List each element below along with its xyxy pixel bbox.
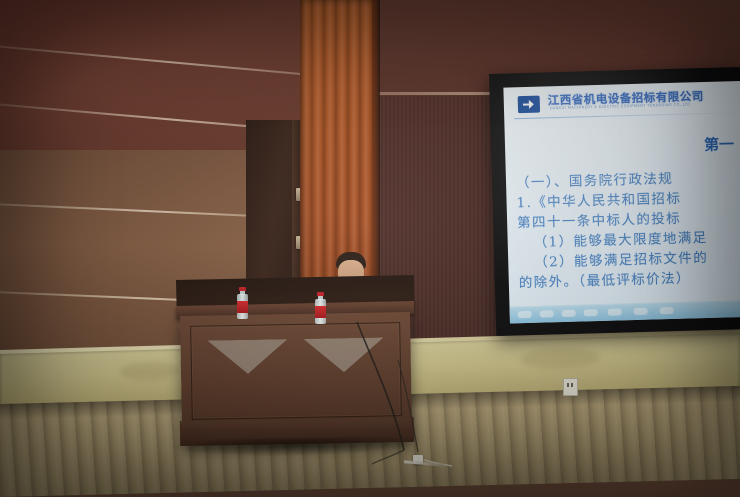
cable-svg [0,300,740,497]
slide-header: 江西省机电设备招标有限公司 JIANGXI MACHINERY & ELECTR… [503,81,740,124]
company-logo-icon [518,96,540,114]
presentation-photo: 江西省机电设备招标有限公司 JIANGXI MACHINERY & ELECTR… [0,0,740,497]
projection-screen: 江西省机电设备招标有限公司 JIANGXI MACHINERY & ELECTR… [489,67,740,336]
slide-title: 第一 [704,133,735,155]
slide-header-rule [514,112,737,119]
cable-group [0,300,740,497]
projected-slide: 江西省机电设备招标有限公司 JIANGXI MACHINERY & ELECTR… [503,81,740,324]
